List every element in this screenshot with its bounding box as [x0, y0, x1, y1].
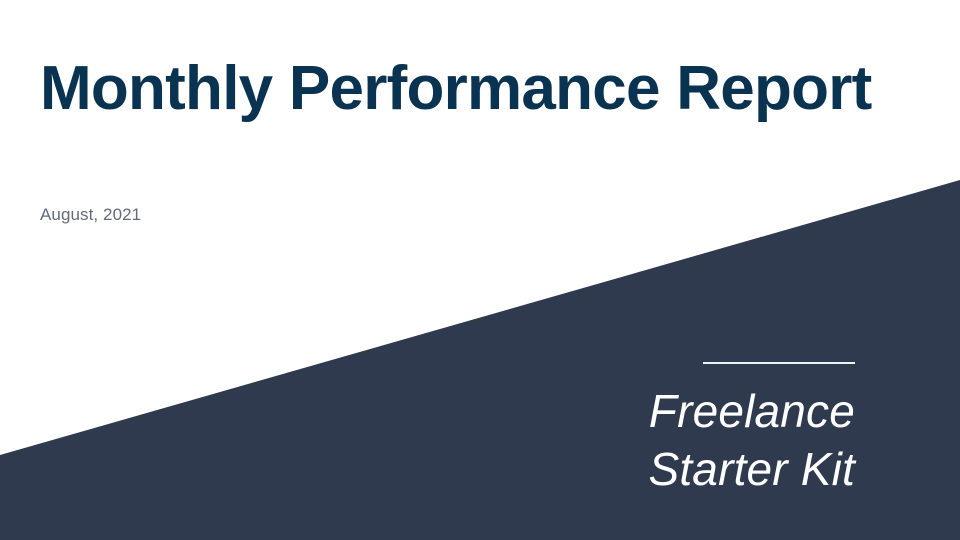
brand-block: Freelance Starter Kit	[435, 362, 855, 499]
date-label: August, 2021	[40, 205, 141, 225]
page-title: Monthly Performance Report	[40, 58, 840, 120]
brand-name-line-2: Starter Kit	[435, 440, 855, 498]
title-block: Monthly Performance Report	[40, 58, 840, 120]
brand-name-line-1: Freelance	[435, 382, 855, 440]
title-slide: Monthly Performance Report August, 2021 …	[0, 0, 960, 540]
brand-divider-rule	[703, 362, 855, 364]
